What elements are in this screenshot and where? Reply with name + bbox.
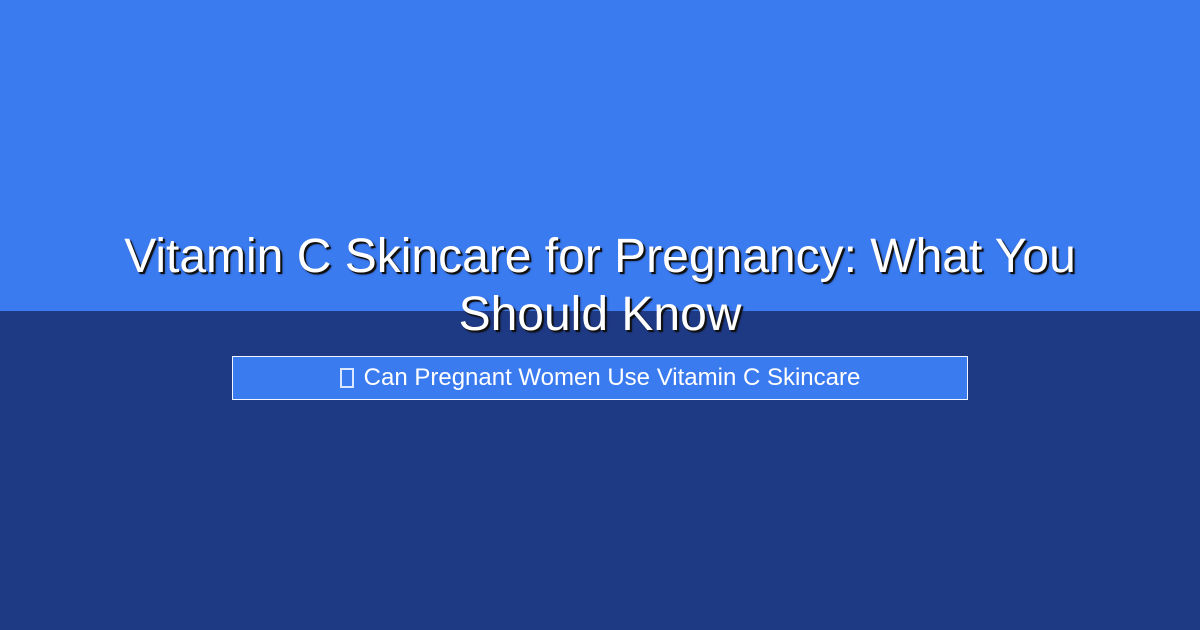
cta-text: Can Pregnant Women Use Vitamin C Skincar… [340, 364, 861, 392]
cta-label: Can Pregnant Women Use Vitamin C Skincar… [364, 364, 861, 392]
cta-link-box[interactable]: Can Pregnant Women Use Vitamin C Skincar… [232, 356, 968, 400]
page-title: Vitamin C Skincare for Pregnancy: What Y… [0, 228, 1200, 344]
social-share-card: Vitamin C Skincare for Pregnancy: What Y… [0, 0, 1200, 630]
missing-glyph-box-icon [340, 368, 354, 388]
